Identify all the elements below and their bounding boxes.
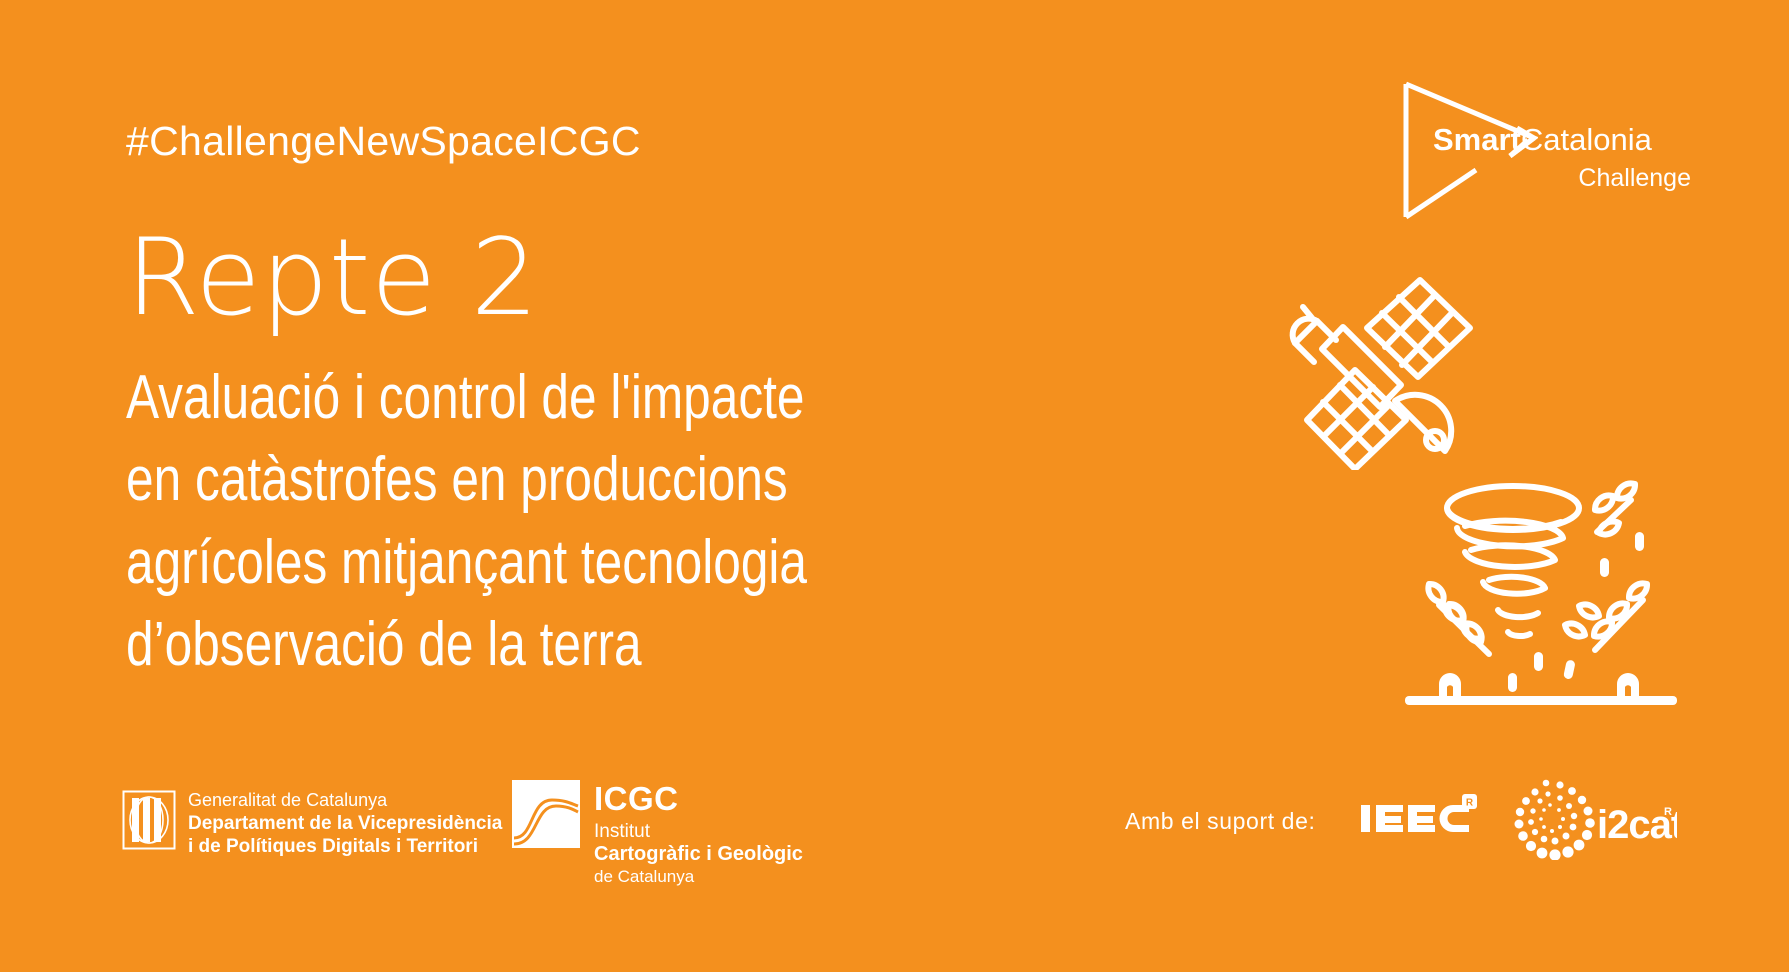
description-line-1: Avaluació i control de l'impacte — [126, 357, 1014, 439]
support-label: Amb el suport de: — [1125, 808, 1315, 835]
generalitat-line-3: i de Polítiques Digitals i Territori — [188, 835, 502, 858]
campaign-hashtag: #ChallengeNewSpaceICGC — [126, 118, 641, 165]
challenge-description: Avaluació i control de l'impacte en catà… — [126, 357, 1014, 687]
generalitat-logo: Generalitat de Catalunya Departament de … — [122, 790, 502, 858]
svg-text:R: R — [1664, 806, 1672, 818]
smartcatalonia-logo: SmartCatalonia Challenge — [1398, 78, 1688, 223]
brand-word-smart: Smart — [1433, 122, 1521, 157]
tornado-icon — [1395, 460, 1685, 710]
smartcatalonia-wordmark: SmartCatalonia Challenge — [1433, 124, 1693, 191]
icgc-line-1: Institut — [594, 821, 803, 843]
poster-canvas: #ChallengeNewSpaceICGC Repte 2 Avaluació… — [0, 0, 1789, 972]
svg-text:R: R — [1466, 798, 1474, 809]
description-line-2: en catàstrofes en produccions — [126, 439, 1014, 521]
icgc-logo: ICGC Institut Cartogràfic i Geològic de … — [512, 780, 803, 887]
description-line-3: agrícoles mitjançant tecnologia — [126, 522, 1014, 604]
page-title: Repte 2 — [126, 225, 539, 331]
generalitat-four-bars-mark — [122, 790, 176, 850]
generalitat-wordmark: Generalitat de Catalunya Departament de … — [188, 790, 502, 858]
satellite-icon — [1255, 255, 1495, 470]
generalitat-line-1: Generalitat de Catalunya — [188, 790, 502, 812]
icgc-line-3: de Catalunya — [594, 867, 803, 887]
brand-subtitle: Challenge — [1433, 166, 1693, 191]
icgc-line-2: Cartogràfic i Geològic — [594, 843, 803, 867]
i2cat-logo: i2cat R — [1512, 775, 1677, 860]
icgc-acronym: ICGC — [594, 780, 803, 819]
brand-word-catalonia: Catalonia — [1521, 122, 1652, 157]
icgc-wordmark: ICGC Institut Cartogràfic i Geològic de … — [594, 780, 803, 887]
description-line-4: d’observació de la terra — [126, 604, 1014, 686]
ieec-logo: R — [1359, 793, 1479, 843]
icgc-square-curve-mark — [512, 780, 580, 848]
generalitat-line-2: Departament de la Vicepresidència — [188, 812, 502, 835]
